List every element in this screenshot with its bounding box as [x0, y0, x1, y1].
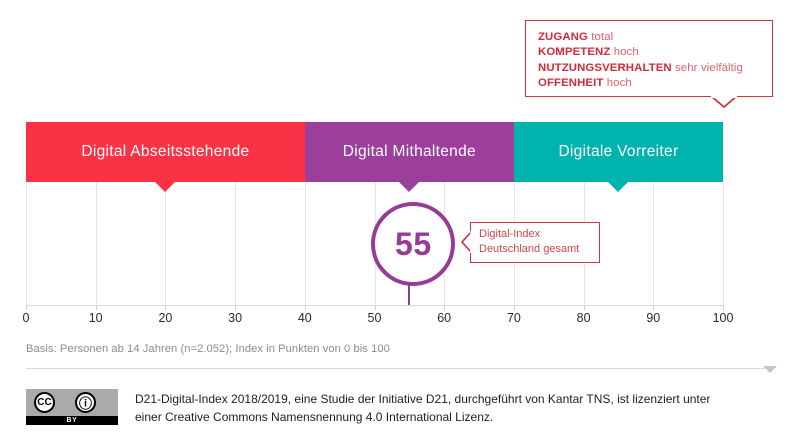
cc-attribution-icon: ⓘ	[75, 392, 96, 413]
index-callout-line-2: Deutschland gesamt	[479, 242, 599, 257]
axis-label: 40	[285, 311, 325, 325]
segment-bar-label: Digitale Vorreiter	[558, 143, 678, 161]
attribute-callout-tail-icon	[711, 96, 737, 108]
axis-label: 50	[355, 311, 395, 325]
segment-marker-icon	[399, 182, 419, 192]
segment-bar[interactable]: Digital Abseitsstehende	[26, 122, 305, 182]
gridline	[653, 182, 654, 305]
gridline	[305, 182, 306, 305]
axis-tick	[723, 305, 724, 310]
axis-tick	[26, 305, 27, 310]
attribute-value-nutzungsverhalten: sehr vielfältig	[675, 62, 743, 74]
infographic-canvas: ZUGANG total KOMPETENZ hoch NUTZUNGSVERH…	[0, 0, 800, 447]
cc-logo-icon: CC	[34, 392, 55, 413]
license-line-1: D21-Digital-Index 2018/2019, eine Studie…	[135, 390, 775, 408]
gridline	[26, 182, 27, 305]
index-callout: Digital-Index Deutschland gesamt	[470, 222, 600, 263]
footer-divider	[26, 368, 770, 369]
license-line-2: einer Creative Commons Namensnennung 4.0…	[135, 408, 775, 426]
segment-bar[interactable]: Digitale Vorreiter	[514, 122, 723, 182]
axis-tick	[305, 305, 306, 310]
attribute-value-zugang: total	[591, 31, 613, 43]
attribute-line-kompetenz: KOMPETENZ hoch	[538, 45, 772, 60]
divider-arrow-icon	[763, 366, 777, 373]
segment-marker-icon	[608, 182, 628, 192]
attribute-line-zugang: ZUGANG total	[538, 30, 772, 45]
attribute-value-kompetenz: hoch	[614, 46, 639, 58]
index-callout-tail-icon	[461, 231, 472, 253]
segment-bar[interactable]: Digital Mithaltende	[305, 122, 514, 182]
gridline	[235, 182, 236, 305]
axis-label: 80	[564, 311, 604, 325]
attribute-value-offenheit: hoch	[607, 77, 632, 89]
segment-bar-label: Digital Mithaltende	[343, 143, 476, 161]
index-value: 55	[395, 226, 432, 263]
gridline	[723, 182, 724, 305]
attribute-key-zugang: ZUGANG	[538, 31, 588, 43]
cc-by-label: BY	[26, 416, 118, 425]
axis-tick	[584, 305, 585, 310]
axis-label: 90	[633, 311, 673, 325]
attribute-key-offenheit: OFFENHEIT	[538, 77, 603, 89]
license-text: D21-Digital-Index 2018/2019, eine Studie…	[135, 390, 775, 426]
attribute-key-nutzungsverhalten: NUTZUNGSVERHALTEN	[538, 62, 672, 74]
cc-badge-top: CC ⓘ	[26, 389, 118, 416]
index-circle: 55	[371, 202, 455, 286]
index-callout-line-1: Digital-Index	[479, 227, 599, 242]
segment-marker-icon	[155, 182, 175, 192]
axis-tick	[96, 305, 97, 310]
axis-tick	[375, 305, 376, 310]
attribute-line-nutzungsverhalten: NUTZUNGSVERHALTEN sehr vielfältig	[538, 61, 772, 76]
attribute-key-kompetenz: KOMPETENZ	[538, 46, 610, 58]
axis-label: 10	[76, 311, 116, 325]
axis-label: 70	[494, 311, 534, 325]
gridline	[165, 182, 166, 305]
axis-label: 20	[145, 311, 185, 325]
creative-commons-badge: CC ⓘ BY	[26, 389, 118, 425]
axis-label: 60	[424, 311, 464, 325]
basis-note: Basis: Personen ab 14 Jahren (n=2.052); …	[26, 343, 390, 355]
axis-tick	[444, 305, 445, 310]
axis-tick	[235, 305, 236, 310]
gridline	[96, 182, 97, 305]
attribute-callout: ZUGANG total KOMPETENZ hoch NUTZUNGSVERH…	[525, 20, 773, 97]
axis-tick	[165, 305, 166, 310]
axis-tick	[514, 305, 515, 310]
axis-label: 30	[215, 311, 255, 325]
axis-label: 0	[6, 311, 46, 325]
attribute-line-offenheit: OFFENHEIT hoch	[538, 76, 772, 91]
axis-tick	[653, 305, 654, 310]
axis-label: 100	[703, 311, 743, 325]
segment-bar-label: Digital Abseitsstehende	[81, 143, 249, 161]
segment-bars: Digital AbseitsstehendeDigital Mithalten…	[26, 122, 723, 182]
